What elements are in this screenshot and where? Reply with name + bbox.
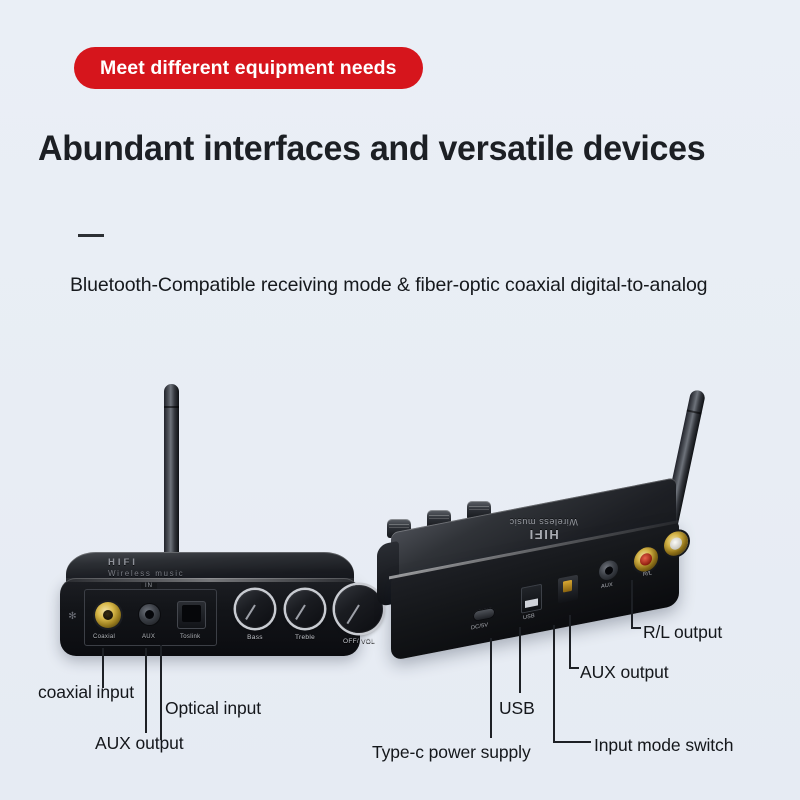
aux-port-label: AUX (142, 634, 155, 640)
aux-port-label: AUX (601, 582, 613, 590)
usb-c-power-port[interactable] (473, 607, 495, 622)
aux-output-port[interactable] (599, 559, 618, 582)
callout-aux-output-right: AUX output (580, 662, 669, 683)
product-feature-page: Meet different equipment needs Abundant … (0, 0, 800, 800)
input-mode-switch[interactable] (558, 575, 578, 604)
leader-line-typec (490, 638, 492, 738)
screw-icon: ✻ (68, 612, 77, 621)
volume-knob[interactable] (335, 585, 383, 633)
leader-elbow-rl-output (631, 627, 641, 629)
leader-line-optical (160, 645, 162, 740)
callout-coaxial-input: coaxial input (38, 682, 134, 703)
callout-input-mode-switch: Input mode switch (594, 735, 733, 756)
input-port-group: IN Coaxial AUX Toslink (84, 589, 217, 646)
brand-name: HIFI (509, 527, 578, 542)
brand-tagline: Wireless music (509, 517, 578, 527)
treble-knob[interactable] (286, 590, 324, 628)
leader-elbow-aux-output (569, 667, 579, 669)
aux-port[interactable] (139, 604, 160, 625)
right-device-branding: HIFI Wireless music (509, 517, 578, 542)
coaxial-port-label: Coaxial (93, 634, 115, 640)
volume-knob-label: OFF/ VOL (331, 638, 387, 645)
coaxial-port[interactable] (95, 602, 121, 628)
usb-a-port[interactable] (521, 584, 542, 614)
callout-optical-input: Optical input (165, 698, 261, 719)
toslink-port[interactable] (177, 601, 206, 629)
callout-aux-output: AUX output (95, 733, 184, 754)
feature-badge: Meet different equipment needs (74, 47, 423, 89)
callout-typec-power: Type-c power supply (372, 742, 531, 763)
leader-line-mode-switch (553, 625, 555, 742)
left-device-branding: HIFI Wireless music (108, 558, 184, 578)
rca-left-port[interactable] (664, 529, 688, 558)
callout-usb: USB (499, 698, 535, 719)
rca-port-label: R/L (643, 570, 652, 578)
callout-rl-output: R/L output (643, 622, 722, 643)
treble-knob-label: Treble (286, 634, 324, 641)
brand-name: HIFI (108, 558, 184, 569)
usb-c-port-label: DC/5V (471, 622, 488, 631)
left-device-front-view: HIFI Wireless music ✻ ✻ IN Coaxial AUX T… (60, 552, 360, 660)
brand-tagline: Wireless music (108, 569, 184, 578)
description-text: Bluetooth-Compatible receiving mode & fi… (70, 262, 730, 309)
leader-line-rl-output (631, 580, 633, 628)
left-device-front-panel: ✻ ✻ IN Coaxial AUX Toslink Bass Treble O… (60, 578, 360, 656)
page-title: Abundant interfaces and versatile device… (38, 129, 705, 169)
bass-knob-label: Bass (236, 634, 274, 641)
leader-line-usb (519, 627, 521, 693)
input-group-label: IN (141, 583, 157, 589)
title-divider (78, 234, 104, 237)
antenna-icon (164, 384, 179, 556)
rca-right-port[interactable] (634, 545, 658, 574)
usb-a-port-label: USB (523, 613, 535, 621)
toslink-port-label: Toslink (180, 634, 200, 640)
leader-line-aux (145, 648, 147, 733)
bass-knob[interactable] (236, 590, 274, 628)
leader-elbow-mode-switch (553, 741, 591, 743)
leader-line-aux-output (569, 615, 571, 668)
